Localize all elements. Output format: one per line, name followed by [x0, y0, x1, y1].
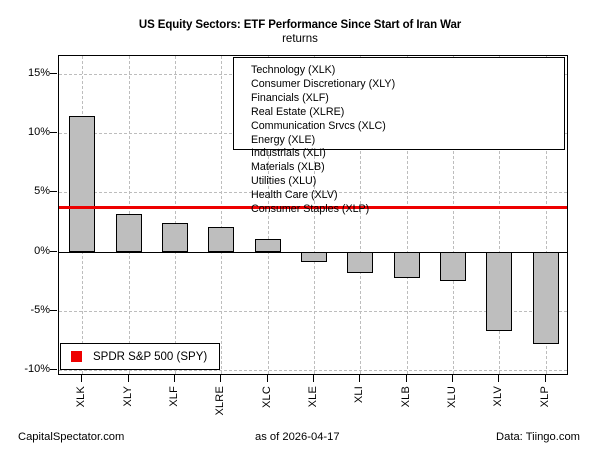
bar-XLE — [301, 252, 327, 263]
x-tick-mark — [545, 375, 546, 382]
benchmark-legend-label: SPDR S&P 500 (SPY) — [93, 351, 207, 363]
legend-entry-left-3: Real Estate (XLRE) — [251, 106, 419, 120]
legend-column-right: Industrials (XLI)Materials (XLB)Utilitie… — [251, 147, 397, 217]
legend-entry-left-1: Consumer Discretionary (XLY) — [251, 78, 419, 92]
bar-XLP — [533, 252, 559, 344]
footer-data-provider: Data: Tiingo.com — [496, 431, 580, 443]
chart-container: US Equity Sectors: ETF Performance Since… — [0, 0, 600, 450]
legend-entry-right-2: Utilities (XLU) — [251, 175, 397, 189]
y-tick-label: 5% — [6, 185, 50, 197]
x-tick-label-XLK: XLK — [75, 386, 87, 407]
benchmark-legend: SPDR S&P 500 (SPY) — [60, 343, 220, 370]
x-tick-mark — [498, 375, 499, 382]
x-tick-mark — [313, 375, 314, 382]
x-tick-label-XLI: XLI — [353, 386, 365, 403]
y-tick-mark — [50, 310, 57, 311]
y-tick-label: 10% — [6, 126, 50, 138]
bar-XLV — [486, 252, 512, 331]
x-tick-label-XLU: XLU — [446, 386, 458, 408]
x-tick-label-XLB: XLB — [400, 386, 412, 407]
x-tick-mark — [220, 375, 221, 382]
benchmark-swatch-icon — [71, 351, 82, 362]
y-axis: 15%10%5%0%-5%-10% — [0, 55, 50, 375]
y-tick-mark — [50, 132, 57, 133]
bar-XLK — [69, 116, 95, 251]
legend-entry-right-3: Health Care (XLV) — [251, 189, 397, 203]
bar-XLU — [440, 252, 466, 282]
gridline-y--10 — [59, 370, 567, 371]
y-tick-mark — [50, 369, 57, 370]
gridline-x-XLRE — [221, 56, 222, 374]
legend-entry-left-0: Technology (XLK) — [251, 64, 419, 78]
x-tick-mark — [128, 375, 129, 382]
y-tick-mark — [50, 251, 57, 252]
legend-entry-left-4: Communication Srvcs (XLC) — [251, 120, 419, 134]
y-tick-label: -10% — [6, 363, 50, 375]
x-tick-label-XLF: XLF — [168, 386, 180, 407]
legend-column-left: Technology (XLK)Consumer Discretionary (… — [251, 64, 419, 147]
x-tick-mark — [359, 375, 360, 382]
x-tick-label-XLY: XLY — [122, 386, 134, 407]
x-tick-label-XLV: XLV — [492, 386, 504, 407]
y-tick-mark — [50, 191, 57, 192]
chart-title: US Equity Sectors: ETF Performance Since… — [0, 19, 600, 31]
zero-baseline — [59, 252, 567, 253]
y-tick-label: 0% — [6, 245, 50, 257]
x-tick-mark — [406, 375, 407, 382]
bar-XLRE — [208, 227, 234, 252]
gridline-x-XLF — [175, 56, 176, 374]
x-tick-mark — [452, 375, 453, 382]
x-tick-mark — [174, 375, 175, 382]
legend-entry-right-0: Industrials (XLI) — [251, 147, 397, 161]
bar-XLF — [162, 223, 188, 251]
legend-entry-right-4: Consumer Staples (XLP) — [251, 203, 397, 217]
footer-source: CapitalSpectator.com — [18, 431, 124, 443]
x-tick-label-XLRE: XLRE — [214, 386, 226, 416]
bar-XLY — [116, 214, 142, 252]
sector-legend: Technology (XLK)Consumer Discretionary (… — [233, 57, 565, 150]
x-tick-mark — [81, 375, 82, 382]
y-tick-mark — [50, 73, 57, 74]
legend-entry-left-2: Financials (XLF) — [251, 92, 419, 106]
x-tick-label-XLP: XLP — [539, 386, 551, 407]
footer-as-of-date: as of 2026-04-17 — [255, 431, 340, 443]
legend-entry-right-1: Materials (XLB) — [251, 161, 397, 175]
x-tick-mark — [267, 375, 268, 382]
y-tick-label: 15% — [6, 67, 50, 79]
x-tick-label-XLC: XLC — [261, 386, 273, 408]
y-tick-label: -5% — [6, 304, 50, 316]
chart-subtitle: returns — [0, 33, 600, 45]
bar-XLB — [394, 252, 420, 278]
bar-XLI — [347, 252, 373, 273]
bar-XLC — [255, 239, 281, 252]
x-tick-label-XLE: XLE — [307, 386, 319, 407]
legend-entry-left-5: Energy (XLE) — [251, 134, 419, 148]
